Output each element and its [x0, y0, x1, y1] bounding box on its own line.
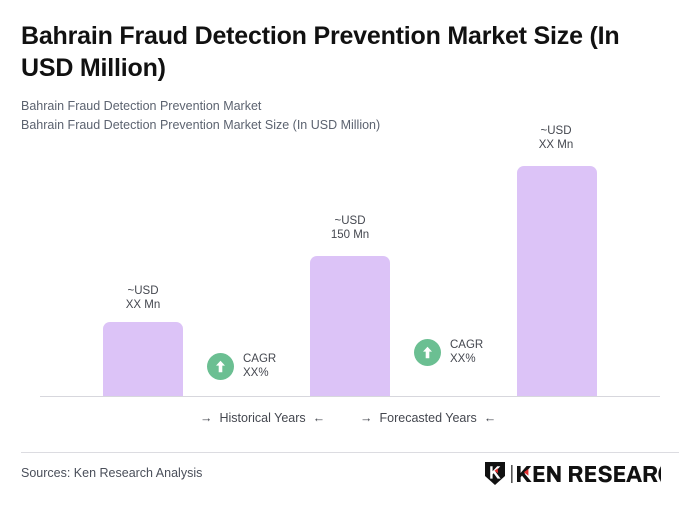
bar-label-2-amount: 150 Mn: [290, 228, 410, 242]
ken-research-logo: [484, 461, 661, 491]
cagr-annotation-2: CAGR XX%: [414, 338, 483, 366]
bar-label-3-amount: XX Mn: [496, 138, 616, 152]
arrow-up-icon: [207, 353, 234, 380]
bar-3: [517, 166, 597, 396]
cagr-annotation-2-text: CAGR XX%: [450, 338, 483, 366]
cagr-annotation-2-value: XX%: [450, 353, 476, 365]
chart-plot-area: ~USD XX Mn ~USD 150 Mn ~USD XX Mn CAGR X…: [0, 0, 700, 400]
arrow-up-icon: [414, 339, 441, 366]
bar-1: [103, 322, 183, 396]
bar-label-3-currency: ~USD: [496, 124, 616, 138]
bar-label-1-amount: XX Mn: [83, 298, 203, 312]
bar-label-2-currency: ~USD: [290, 214, 410, 228]
bar-label-1: ~USD XX Mn: [83, 284, 203, 312]
axis-baseline: [40, 396, 660, 397]
period-label-forecasted: → Forecasted Years ←: [360, 411, 496, 425]
cagr-annotation-1: CAGR XX%: [207, 352, 276, 380]
ken-research-shield-logo: [484, 461, 506, 491]
cagr-annotation-1-value: XX%: [243, 367, 269, 379]
bar-label-3: ~USD XX Mn: [496, 124, 616, 152]
cagr-annotation-1-text: CAGR XX%: [243, 352, 276, 380]
cagr-annotation-2-label: CAGR: [450, 339, 483, 351]
sources-text: Sources: Ken Research Analysis: [21, 466, 202, 480]
arrow-left-icon: ←: [484, 412, 497, 425]
arrow-right-icon: →: [360, 412, 373, 425]
period-label-historical-text: Historical Years: [220, 411, 306, 425]
bar-2: [310, 256, 390, 396]
arrow-left-icon: ←: [313, 412, 326, 425]
cagr-annotation-1-label: CAGR: [243, 353, 276, 365]
bar-label-2: ~USD 150 Mn: [290, 214, 410, 242]
chart-page: Bahrain Fraud Detection Prevention Marke…: [0, 0, 700, 520]
period-label-historical: → Historical Years ←: [200, 411, 325, 425]
arrow-right-icon: →: [200, 412, 213, 425]
bar-label-1-currency: ~USD: [83, 284, 203, 298]
ken-research-wordmark: [511, 464, 661, 489]
period-label-forecasted-text: Forecasted Years: [380, 411, 477, 425]
footer-divider: [21, 452, 679, 453]
